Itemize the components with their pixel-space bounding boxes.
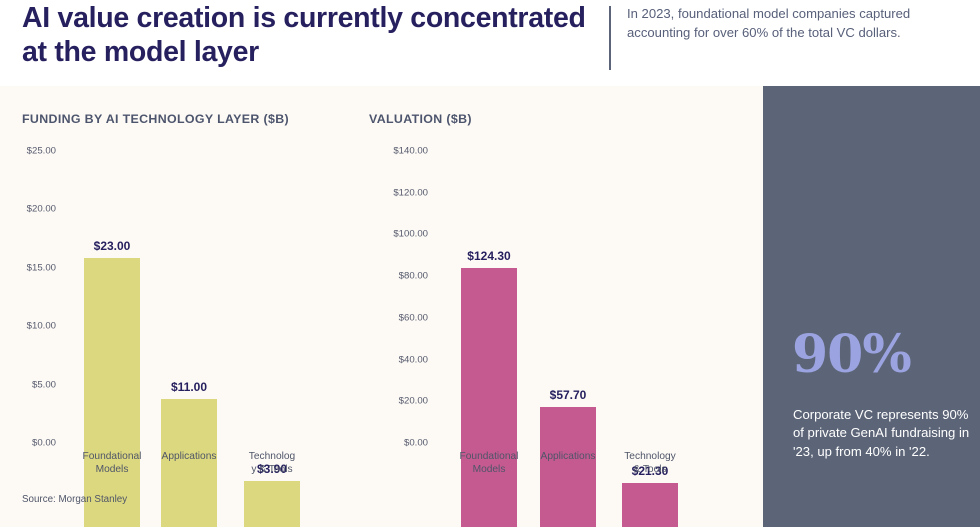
stat-panel: 90% Corporate VC represents 90% of priva… [763, 86, 980, 527]
plot-area-funding: $25.00$20.00$15.00$10.00$5.00$0.00$23.00… [0, 86, 360, 527]
y-axis-tick-label: $25.00 [0, 146, 56, 157]
x-axis-category-label-line: Technolog [227, 450, 317, 463]
x-axis-category-label-line: Technology [605, 450, 695, 463]
bar [540, 407, 596, 527]
y-axis-tick-label: $5.00 [0, 379, 56, 390]
y-axis-tick-label: $20.00 [0, 204, 56, 215]
y-axis-tick-label: $80.00 [360, 271, 428, 282]
bar-value-label: $57.70 [540, 388, 596, 402]
header-divider [609, 6, 611, 70]
bar-value-label: $124.30 [461, 249, 517, 263]
bar-group: $11.00 [161, 170, 217, 527]
x-axis-category-label: Applications [144, 450, 234, 463]
bar [622, 483, 678, 527]
page-title: AI value creation is currently concentra… [22, 1, 592, 70]
bar [461, 268, 517, 527]
y-axis-tick-label: $20.00 [360, 396, 428, 407]
y-axis-tick-label: $60.00 [360, 312, 428, 323]
slide-root: AI value creation is currently concentra… [0, 0, 980, 527]
y-axis-tick-label: $15.00 [0, 262, 56, 273]
header-subtitle: In 2023, foundational model companies ca… [627, 5, 947, 42]
chart-funding-by-ai-technology-layer: FUNDING BY AI TECHNOLOGY LAYER ($B) $25.… [0, 86, 360, 527]
y-axis-tick-label: $120.00 [360, 187, 428, 198]
x-axis-category-label: Applications [523, 450, 613, 463]
y-axis-tick-label: $140.00 [360, 146, 428, 157]
stat-description: Corporate VC represents 90% of private G… [793, 406, 973, 461]
x-axis-category-label-line: Models [67, 463, 157, 476]
x-axis-category-label-line: Foundational [444, 450, 534, 463]
x-axis-category-label: Technology & Tools [227, 450, 317, 476]
stat-big-number: 90% [792, 329, 911, 381]
bar [84, 258, 140, 527]
bar-group: $57.70 [540, 170, 596, 527]
x-axis-category-label-line: Applications [523, 450, 613, 463]
y-axis-tick-label: $40.00 [360, 354, 428, 365]
x-axis-category-label: FoundationalModels [444, 450, 534, 476]
x-axis-category-label-line: Models [444, 463, 534, 476]
y-axis-tick-label: $0.00 [0, 438, 56, 449]
bar-value-label: $23.00 [84, 239, 140, 253]
x-axis-category-label-line: & Tools [605, 463, 695, 476]
x-axis-category-label-line: y & Tools [227, 463, 317, 476]
bar-value-label: $11.00 [161, 380, 217, 394]
chart-valuation: VALUATION ($B) $140.00$120.00$100.00$80.… [360, 86, 760, 527]
slide-header: AI value creation is currently concentra… [0, 0, 980, 86]
x-axis-category-label-line: Applications [144, 450, 234, 463]
x-axis-category-label: Technology& Tools [605, 450, 695, 476]
y-axis-tick-label: $100.00 [360, 229, 428, 240]
bar [244, 481, 300, 527]
plot-area-valuation: $140.00$120.00$100.00$80.00$60.00$40.00$… [360, 86, 760, 527]
y-axis-tick-label: $10.00 [0, 321, 56, 332]
y-axis-tick-label: $0.00 [360, 438, 428, 449]
source-note: Source: Morgan Stanley [22, 494, 127, 505]
